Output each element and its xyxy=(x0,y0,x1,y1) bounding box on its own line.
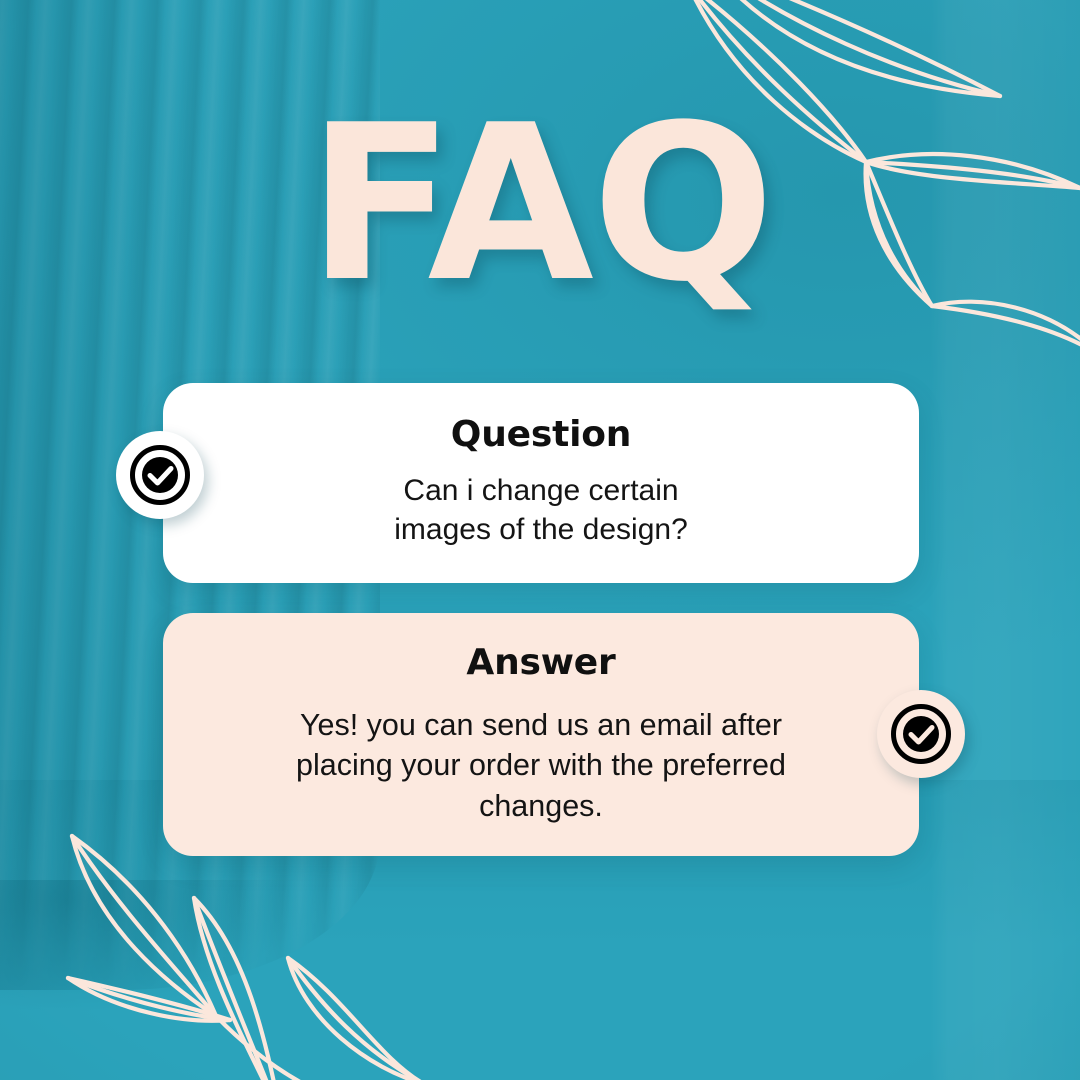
answer-heading: Answer xyxy=(211,643,871,683)
background-pillar-shadow xyxy=(0,880,560,1080)
answer-text: Yes! you can send us an email after plac… xyxy=(211,705,871,828)
question-heading: Question xyxy=(223,415,859,455)
question-text: Can i change certain images of the desig… xyxy=(223,471,859,550)
page-title: FAQ xyxy=(0,96,1080,311)
question-card: Question Can i change certain images of … xyxy=(163,383,919,583)
answer-card: Answer Yes! you can send us an email aft… xyxy=(163,613,919,856)
check-circle-icon xyxy=(116,431,204,519)
faq-poster: FAQ Question Can i change certain images… xyxy=(0,0,1080,1080)
check-circle-icon xyxy=(877,690,965,778)
